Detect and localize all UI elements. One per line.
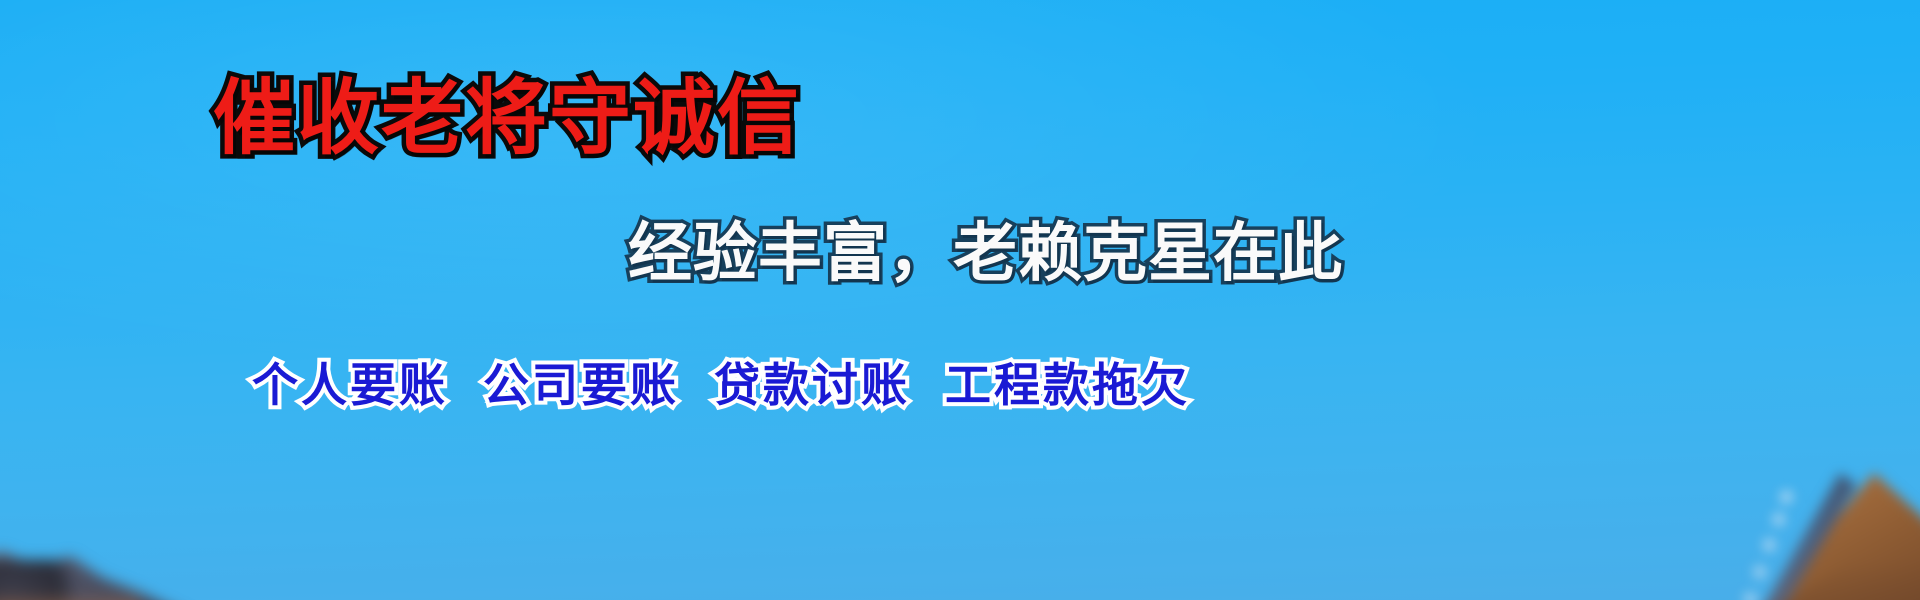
service-item-2: 公司要账 [483,358,679,412]
service-item-3: 贷款讨账 [714,358,910,412]
left-warm-wall [0,590,140,600]
service-list: 个人要账 公司要账 贷款讨账 工程款拖欠 [252,362,1190,408]
promo-banner: 催收老将守诚信 经验丰富，老赖克星在此 个人要账 公司要账 贷款讨账 工程款拖欠 [0,0,1920,600]
background-left-roof [0,510,260,600]
banner-subheadline: 经验丰富，老赖克星在此 [628,222,1343,286]
right-roof-ridge [1672,470,1882,600]
service-item-1: 个人要账 [252,358,448,412]
right-building-roof [1640,470,1920,600]
left-foliage [0,560,90,600]
right-ridge-tiles [1680,470,1870,600]
service-item-4: 工程款拖欠 [945,358,1190,412]
right-eave-shadow [1710,560,1920,600]
banner-headline: 催收老将守诚信 [213,78,801,160]
left-roof-silhouette [0,540,190,600]
background-right-building [1610,470,1920,600]
